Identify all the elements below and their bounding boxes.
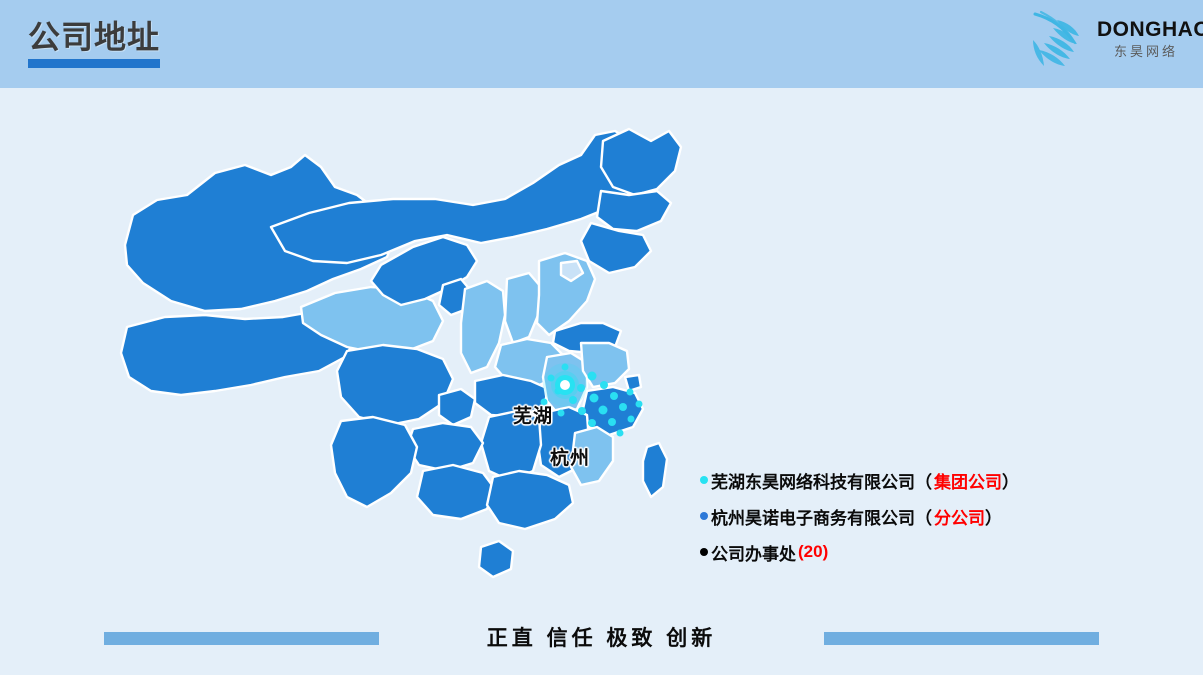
brand-logo: DONGHAO 东昊网络 [1027, 8, 1195, 76]
legend-item-tag: (20) [798, 542, 828, 562]
footer-rule-right [824, 632, 1099, 645]
legend-item-branch-company: 杭州昊诺电子商务有限公司 （ 分公司 ） [700, 498, 1170, 534]
legend-item-label: 杭州昊诺电子商务有限公司 [711, 504, 915, 529]
title-underline [28, 59, 160, 68]
legend-item-offices: 公司办事处 (20) [700, 534, 1170, 570]
footer: 正直 信任 极致 创新 [0, 620, 1203, 660]
legend-item-tag: 集团公司 [934, 468, 1002, 493]
legend-bullet-icon [700, 476, 708, 484]
map-label-hangzhou: 杭州 [550, 443, 590, 470]
legend-item-tag: 分公司 [934, 504, 985, 529]
legend-paren-open: （ [915, 504, 932, 529]
legend-bullet-icon [700, 512, 708, 520]
legend-bullet-icon [700, 548, 708, 556]
logo-subtitle: 东昊网络 [1097, 43, 1195, 61]
legend-paren-close: ） [985, 504, 1002, 529]
map-label-wuhu: 芜湖 [513, 401, 553, 428]
legend-paren-close: ） [1002, 468, 1019, 493]
feather-wing-icon [1027, 10, 1097, 72]
header-band: 公司地址 DONGHAO 东昊网络 [0, 0, 1203, 88]
legend: 芜湖东昊网络科技有限公司 （ 集团公司 ） 杭州昊诺电子商务有限公司 （ 分公司… [700, 462, 1170, 570]
page-title: 公司地址 [28, 17, 160, 57]
china-map: 芜湖 杭州 [95, 95, 715, 615]
logo-name: DONGHAO [1097, 18, 1195, 42]
legend-item-group-company: 芜湖东昊网络科技有限公司 （ 集团公司 ） [700, 462, 1170, 498]
legend-item-label: 芜湖东昊网络科技有限公司 [711, 468, 915, 493]
page-title-group: 公司地址 [28, 17, 160, 68]
logo-text-group: DONGHAO 东昊网络 [1097, 18, 1195, 61]
legend-item-label: 公司办事处 [711, 540, 796, 565]
legend-paren-open: （ [915, 468, 932, 493]
